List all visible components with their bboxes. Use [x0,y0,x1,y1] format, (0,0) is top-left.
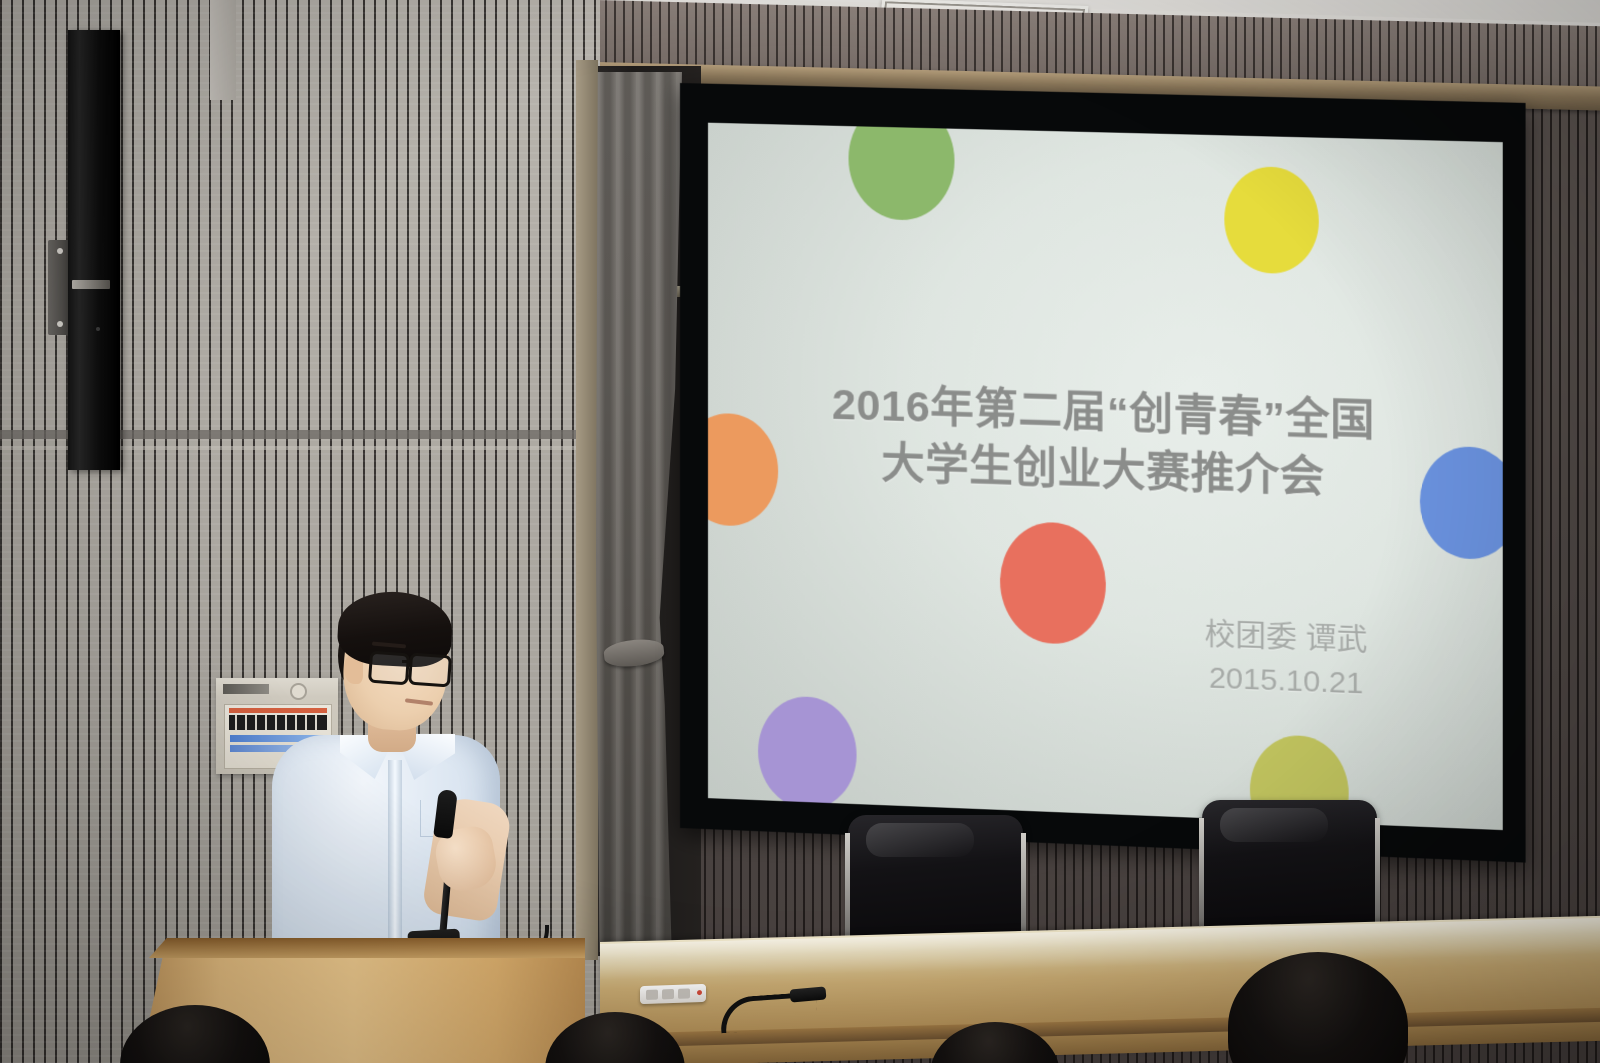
dot-yellow [1224,166,1318,275]
alcove-frame [576,60,598,960]
slide-decor-dots [708,123,1503,142]
panel-label [223,684,269,694]
chair-2 [1202,800,1377,930]
chair-1 [848,815,1023,945]
glasses-bridge-icon [402,660,411,663]
presenter-shirt-placket [388,760,402,955]
slide-subtitle-presenter: 校团委 谭武 [1132,606,1440,662]
breaker-row [229,715,327,730]
corner-column [210,0,236,100]
speaker-led-icon [96,327,100,331]
slide-subtitle-date: 2015.10.21 [1132,659,1440,705]
panel-lock-icon [290,683,307,700]
dot-red [1000,521,1106,646]
glasses-lens-right-icon [408,653,452,688]
glasses-lens-left-icon [368,651,410,686]
conference-room-photo: 2016年第二届“创青春”全国 大学生创业大赛推介会 校团委 谭武 2015.1… [0,0,1600,1063]
dot-purple [758,695,856,811]
dot-green [849,123,955,222]
power-strip[interactable] [640,984,706,1004]
speaker-badge [72,280,110,289]
podium-top-surface [140,938,585,958]
projection-screen: 2016年第二届“创青春”全国 大学生创业大赛推介会 校团委 谭武 2015.1… [708,123,1503,830]
wall-speaker [68,30,120,470]
projection-screen-frame: 2016年第二届“创青春”全国 大学生创业大赛推介会 校团委 谭武 2015.1… [680,83,1526,863]
